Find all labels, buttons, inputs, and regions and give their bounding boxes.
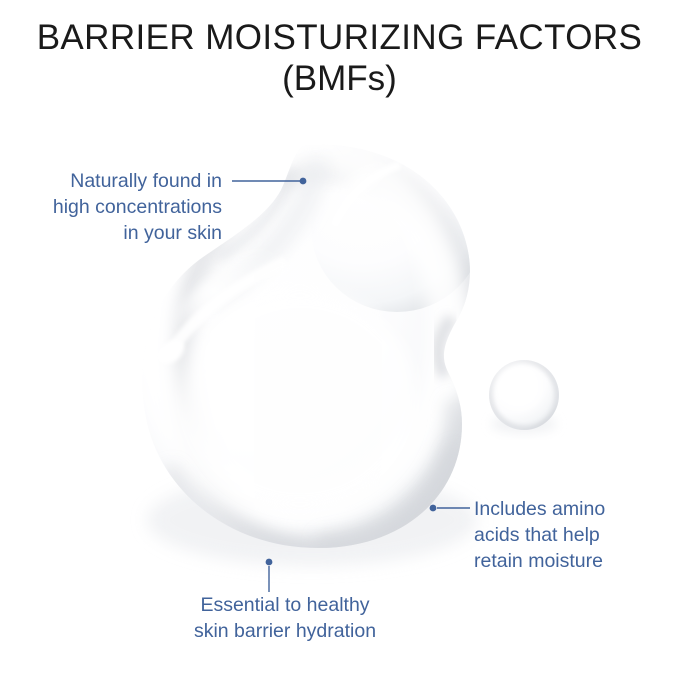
callout-natural-line-3: in your skin bbox=[4, 220, 222, 246]
callout-naturally-found: Naturally found in high concentrations i… bbox=[4, 168, 222, 246]
callout-essential-line-1: Essential to healthy bbox=[120, 592, 450, 618]
cream-blob-illustration bbox=[0, 0, 679, 679]
callout-natural-line-2: high concentrations bbox=[4, 194, 222, 220]
callout-amino-line-3: retain moisture bbox=[474, 548, 674, 574]
leader-line-essential bbox=[266, 559, 273, 592]
callout-amino-line-2: acids that help bbox=[474, 522, 674, 548]
callout-amino-line-1: Includes amino bbox=[474, 496, 674, 522]
callout-essential-line-2: skin barrier hydration bbox=[120, 618, 450, 644]
callout-natural-line-1: Naturally found in bbox=[4, 168, 222, 194]
callout-includes-amino-acids: Includes amino acids that help retain mo… bbox=[474, 496, 674, 574]
infographic-canvas: BARRIER MOISTURIZING FACTORS (BMFs) bbox=[0, 0, 679, 679]
cream-droplet bbox=[489, 360, 559, 430]
callout-essential-hydration: Essential to healthy skin barrier hydrat… bbox=[120, 592, 450, 644]
